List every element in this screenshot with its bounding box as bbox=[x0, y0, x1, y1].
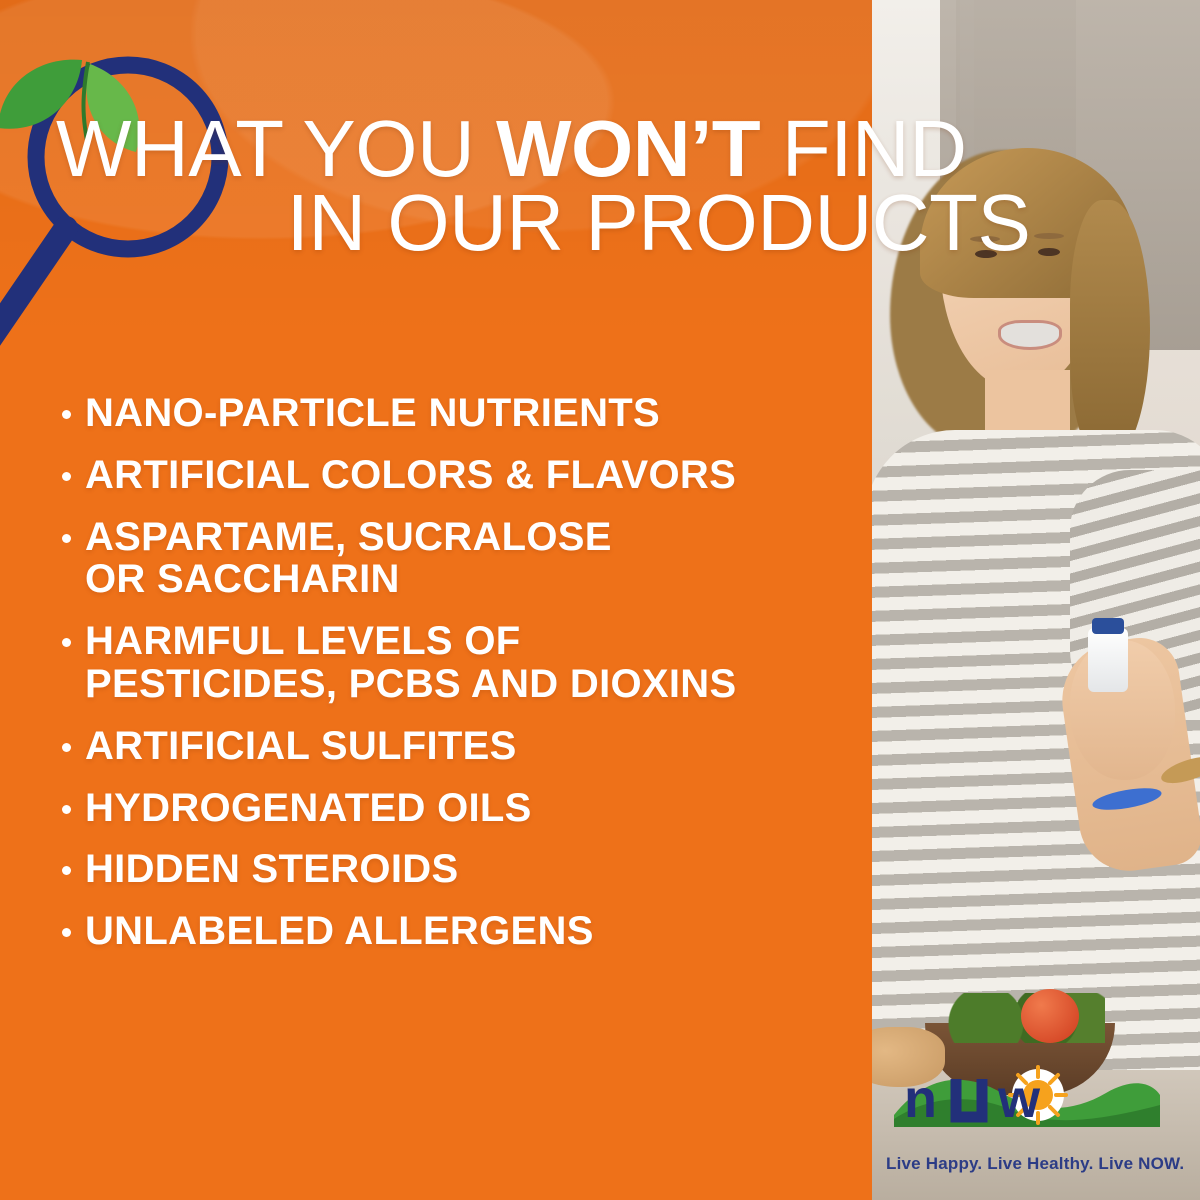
promo-graphic: WHAT YOU WON’T FIND IN OUR PRODUCTS NANO… bbox=[0, 0, 1200, 1200]
list-item-label: HYDROGENATED OILS bbox=[85, 787, 532, 830]
bullet-dot-icon bbox=[62, 410, 71, 419]
bullet-dot-icon bbox=[62, 472, 71, 481]
tomato bbox=[1021, 989, 1079, 1043]
list-item-label: ASPARTAME, SUCRALOSE OR SACCHARIN bbox=[85, 516, 612, 602]
list-item: NANO-PARTICLE NUTRIENTS bbox=[62, 392, 862, 435]
list-item-label: ARTIFICIAL COLORS & FLAVORS bbox=[85, 454, 736, 497]
list-item: ARTIFICIAL SULFITES bbox=[62, 725, 862, 768]
list-item-label: ARTIFICIAL SULFITES bbox=[85, 725, 517, 768]
leafy-greens bbox=[935, 993, 1105, 1043]
headline-line2: IN OUR PRODUCTS bbox=[56, 186, 1151, 260]
bullet-dot-icon bbox=[62, 638, 71, 647]
list-item: HIDDEN STEROIDS bbox=[62, 848, 862, 891]
bullet-dot-icon bbox=[62, 928, 71, 937]
supplement-bottle bbox=[1088, 628, 1128, 692]
now-foods-sunburst-logo: n w bbox=[886, 1053, 1166, 1145]
list-item-label: HIDDEN STEROIDS bbox=[85, 848, 458, 891]
list-item: ARTIFICIAL COLORS & FLAVORS bbox=[62, 454, 862, 497]
bullet-dot-icon bbox=[62, 805, 71, 814]
list-item-label: HARMFUL LEVELS OF PESTICIDES, PCBS AND D… bbox=[85, 620, 736, 706]
bullet-dot-icon bbox=[62, 866, 71, 875]
brand-logo: n w Live Happy. Live Healthy. Live NOW. bbox=[886, 1053, 1166, 1174]
list-item: ASPARTAME, SUCRALOSE OR SACCHARIN bbox=[62, 516, 862, 602]
svg-text:n: n bbox=[904, 1069, 936, 1129]
list-item: HYDROGENATED OILS bbox=[62, 787, 862, 830]
list-item-label: UNLABELED ALLERGENS bbox=[85, 910, 594, 953]
bullet-dot-icon bbox=[62, 534, 71, 543]
bottle-cap bbox=[1092, 618, 1124, 634]
list-item: HARMFUL LEVELS OF PESTICIDES, PCBS AND D… bbox=[62, 620, 862, 706]
svg-text:w: w bbox=[997, 1069, 1041, 1129]
list-item: UNLABELED ALLERGENS bbox=[62, 910, 862, 953]
smiling-mouth bbox=[998, 320, 1062, 350]
logo-tagline: Live Happy. Live Healthy. Live NOW. bbox=[886, 1154, 1166, 1174]
page-title: WHAT YOU WON’T FIND IN OUR PRODUCTS bbox=[56, 112, 1151, 259]
excluded-ingredients-list: NANO-PARTICLE NUTRIENTS ARTIFICIAL COLOR… bbox=[62, 392, 862, 972]
list-item-label: NANO-PARTICLE NUTRIENTS bbox=[85, 392, 660, 435]
bullet-dot-icon bbox=[62, 743, 71, 752]
